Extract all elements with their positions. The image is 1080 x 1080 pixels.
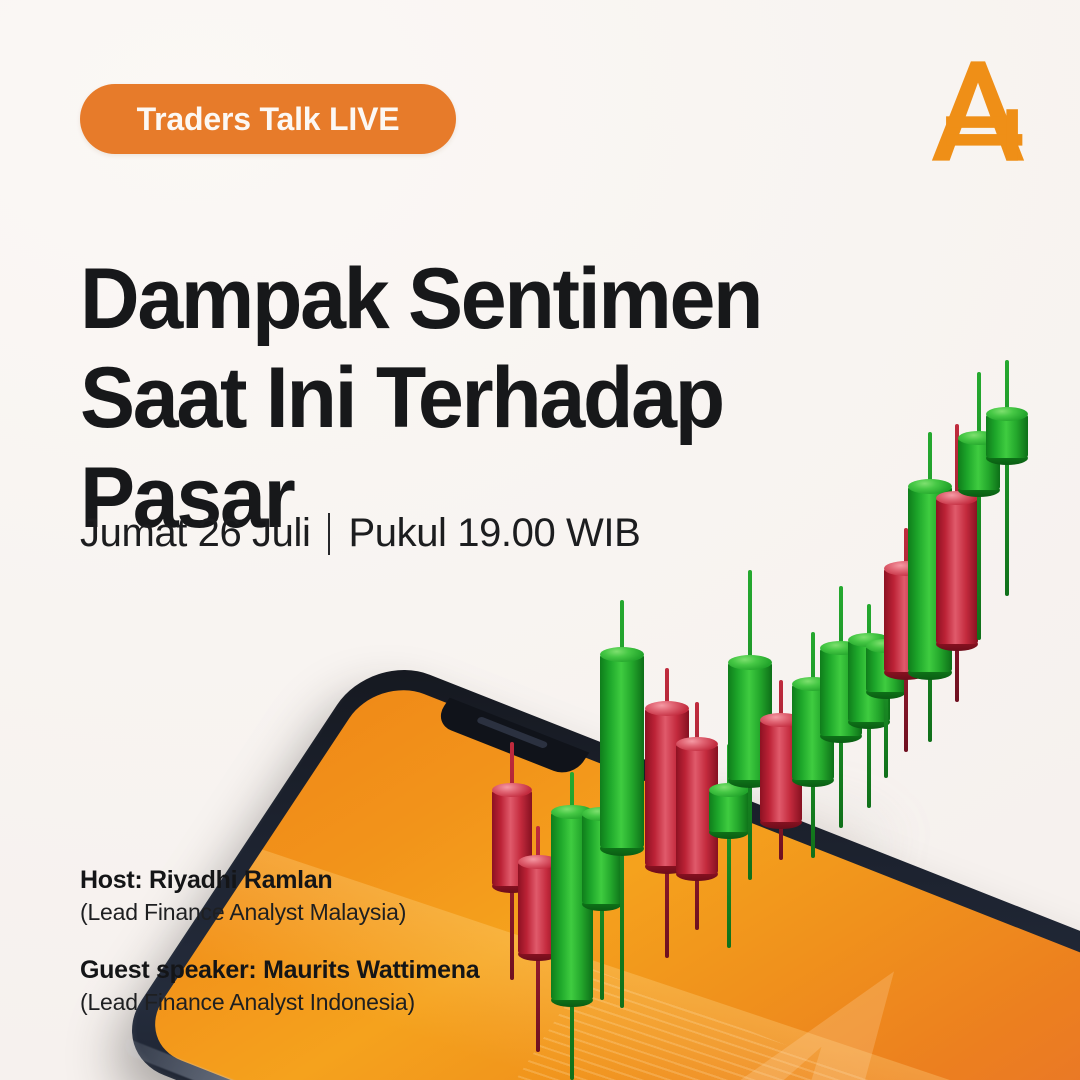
candle-base-ellipse (551, 993, 593, 1007)
candle-body (792, 684, 834, 780)
candle-top-ellipse (936, 491, 978, 505)
candle-top-ellipse (709, 783, 749, 797)
candle-top-ellipse (820, 641, 862, 655)
candlestick-bullish (866, 0, 906, 1080)
poster-canvas: Traders Talk LIVE Dampak Sentimen Saat I… (0, 0, 1080, 1080)
phone-earpiece-speaker (476, 716, 549, 749)
candle-body (492, 790, 532, 886)
traders-talk-live-badge[interactable]: Traders Talk LIVE (80, 84, 456, 154)
candle-wick (955, 424, 959, 702)
speaker-role: (Lead Finance Analyst Malaysia) (80, 899, 479, 926)
candle-body (866, 646, 906, 692)
candle-wick (665, 668, 669, 958)
candle-wick (510, 742, 514, 980)
candle-top-ellipse (958, 431, 1000, 445)
speaker-host: Host: Riyadhi Ramlan (Lead Finance Analy… (80, 866, 479, 926)
candle-body (518, 862, 558, 954)
candle-base-ellipse (820, 729, 862, 743)
candle-top-ellipse (986, 407, 1028, 421)
headline-line-1: Dampak Sentimen (80, 250, 771, 350)
schedule-time: Pukul 19.00 WIB (348, 511, 640, 556)
speaker-name: Guest speaker: Maurits Wattimena (80, 956, 479, 985)
candle-wick (536, 826, 540, 1052)
candle-base-ellipse (676, 867, 718, 881)
candle-top-ellipse (645, 701, 689, 716)
candle-top-ellipse (760, 713, 802, 727)
headline-line-2: Saat Ini Terhadap (80, 349, 771, 449)
speaker-name: Host: Riyadhi Ramlan (80, 866, 479, 895)
candle-base-ellipse (792, 773, 834, 787)
candle-top-ellipse (908, 479, 952, 494)
candlestick-bullish (820, 0, 862, 1080)
candle-wick (1005, 360, 1009, 596)
candle-body (600, 654, 644, 848)
candlestick-bullish (792, 0, 834, 1080)
candle-top-ellipse (676, 737, 718, 751)
candle-body (709, 790, 749, 832)
candle-body (820, 648, 862, 736)
candle-base-ellipse (492, 879, 532, 893)
candle-body (936, 498, 978, 644)
candle-top-ellipse (792, 677, 834, 691)
candle-body (986, 414, 1028, 458)
candle-base-ellipse (709, 825, 749, 839)
schedule-date: Jumat 26 Juli (80, 511, 310, 556)
candle-body (728, 662, 772, 780)
candle-top-ellipse (728, 655, 772, 670)
candle-body (848, 640, 890, 722)
candle-base-ellipse (848, 715, 890, 729)
candle-base-ellipse (600, 841, 644, 856)
speaker-role: (Lead Finance Analyst Indonesia) (80, 989, 479, 1016)
candle-wick (811, 632, 815, 858)
candle-top-ellipse (884, 561, 928, 576)
candle-top-ellipse (492, 783, 532, 797)
candle-wick (839, 586, 843, 828)
candle-wick (695, 702, 699, 930)
phone-notch (433, 698, 589, 779)
candle-base-ellipse (958, 483, 1000, 497)
phone-metal-rail (119, 1038, 905, 1080)
page-title: Dampak Sentimen Saat Ini Terhadap Pasar (80, 250, 771, 549)
candle-body (884, 568, 928, 672)
candle-base-ellipse (986, 451, 1028, 465)
candle-top-ellipse (866, 639, 906, 653)
candlestick-bearish (884, 0, 928, 1080)
candle-body (958, 438, 1000, 490)
letter-a-logo-icon (924, 56, 1032, 166)
candle-top-ellipse (848, 633, 890, 647)
candle-top-ellipse (551, 805, 593, 819)
candle-wick (620, 600, 624, 1008)
candle-base-ellipse (908, 665, 952, 680)
candle-base-ellipse (884, 665, 928, 680)
speaker-list: Host: Riyadhi Ramlan (Lead Finance Analy… (80, 866, 479, 1016)
candle-wick (779, 680, 783, 860)
candle-wick (928, 432, 932, 742)
candle-body (760, 720, 802, 822)
candle-wick (867, 604, 871, 808)
candle-top-ellipse (600, 647, 644, 662)
candle-top-ellipse (518, 855, 558, 869)
badge-label: Traders Talk LIVE (137, 101, 400, 138)
candle-body (645, 708, 689, 866)
candle-base-ellipse (936, 637, 978, 651)
candle-wick (600, 776, 604, 1000)
candle-base-ellipse (728, 773, 772, 788)
candle-body (908, 486, 952, 672)
candle-body (582, 814, 622, 904)
schedule-separator (328, 513, 330, 555)
candle-body (676, 744, 718, 874)
candle-body (551, 812, 593, 1000)
candle-wick (884, 606, 888, 778)
candle-wick (748, 570, 752, 880)
candlestick-bullish (848, 0, 890, 1080)
schedule-line: Jumat 26 Juli Pukul 19.00 WIB (80, 511, 640, 556)
candle-base-ellipse (645, 859, 689, 874)
screen-watermark-a-icon (511, 879, 1080, 1080)
candle-base-ellipse (866, 685, 906, 699)
candle-base-ellipse (582, 897, 622, 911)
speaker-guest: Guest speaker: Maurits Wattimena (Lead F… (80, 956, 479, 1016)
candle-top-ellipse (582, 807, 622, 821)
candle-wick (570, 772, 574, 1080)
candle-wick (904, 528, 908, 752)
candle-base-ellipse (760, 815, 802, 829)
screen-line-texture (464, 967, 1080, 1080)
candle-wick (977, 372, 981, 640)
candle-wick (727, 744, 731, 948)
candle-base-ellipse (518, 947, 558, 961)
